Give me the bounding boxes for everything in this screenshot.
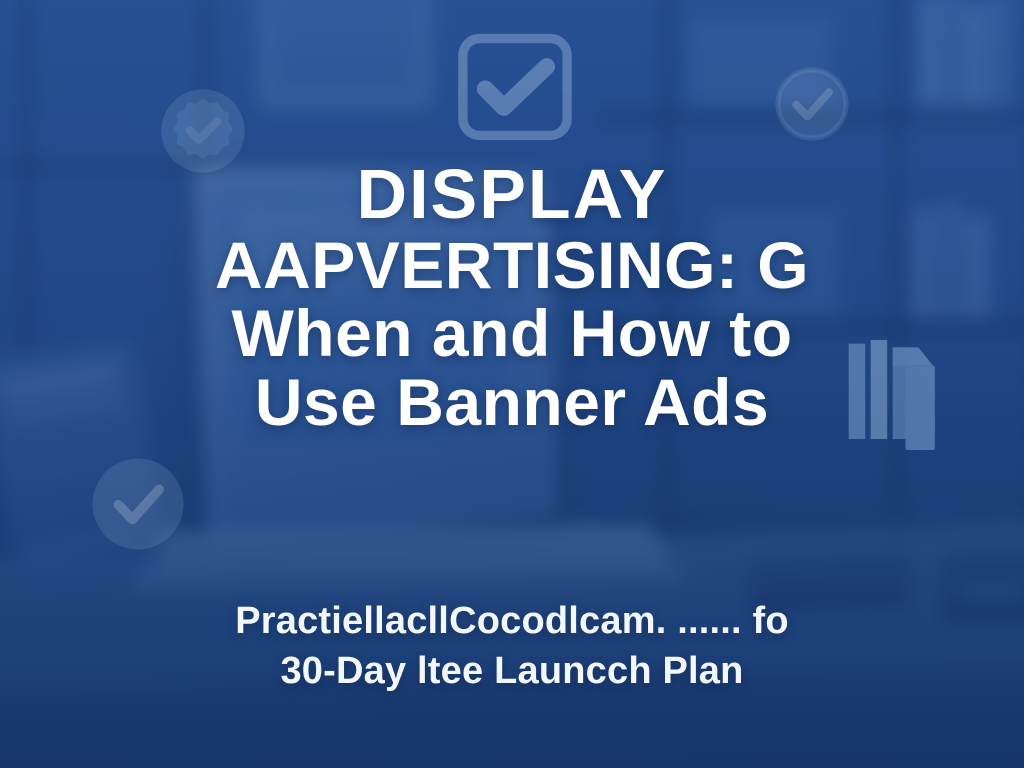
headline-line-3: When and How to: [40, 299, 984, 368]
check-circle-icon: [86, 452, 190, 556]
check-circle-icon: [770, 62, 854, 146]
headline-line-4: Use Banner Ads: [40, 368, 984, 437]
checkbox-checked-icon: [455, 33, 575, 141]
subtitle-line-1: PractiellacllCocodlcam. ...... fo: [40, 596, 984, 646]
headline: DISPLAY AAPVERTISING: G When and How to …: [0, 158, 1024, 437]
banner-image: DISPLAY AAPVERTISING: G When and How to …: [0, 0, 1024, 768]
subtitle: PractiellacllCocodlcam. ...... fo 30-Day…: [0, 596, 1024, 696]
headline-line-2: AAPVERTISING: G: [40, 231, 984, 300]
subtitle-line-2: 30-Day ltee Launcch Plan: [40, 646, 984, 696]
headline-line-1: DISPLAY: [40, 158, 984, 231]
